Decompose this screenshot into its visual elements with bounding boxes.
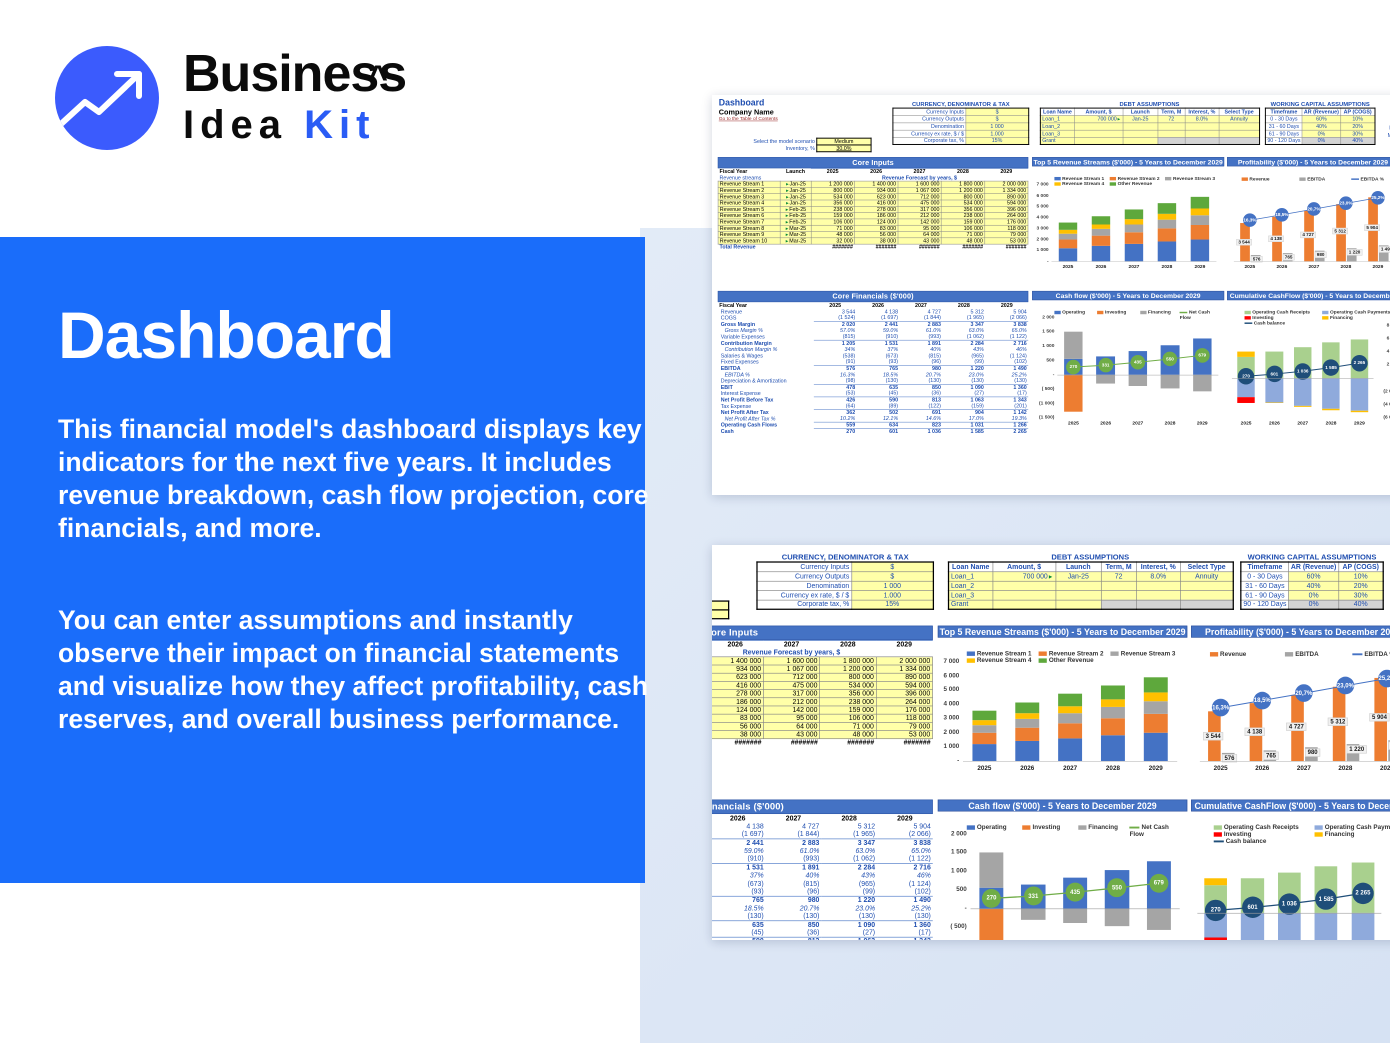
x-tick: 2029 <box>1139 765 1172 772</box>
financial-value: 43% <box>821 871 877 879</box>
currency-value[interactable]: 1 000 <box>851 581 933 590</box>
table-row: Select the model scenario Medium <box>712 601 729 610</box>
x-tick: 2026 <box>1011 765 1044 772</box>
table-of-contents-link[interactable]: Go to the Table of Contents <box>719 116 778 121</box>
debt-cell[interactable] <box>1158 123 1185 130</box>
debt-cell[interactable]: Jan-25 <box>1123 115 1158 122</box>
stream-value[interactable]: 95 000 <box>763 714 819 722</box>
chart-top5-revenue[interactable]: Top 5 Revenue Streams ($'000) - 5 Years … <box>1032 157 1224 275</box>
table-row: Contribution Margin %34%37%40%43%46% <box>712 871 933 879</box>
wc-col-header: Timeframe <box>1241 562 1289 571</box>
bar-segment <box>1059 230 1077 234</box>
table-row: Loan_3 <box>1040 130 1259 137</box>
cash-balance-bubble: 2 265 <box>1351 355 1367 371</box>
bar-segment <box>1058 694 1082 706</box>
stream-value[interactable]: 1 400 000 <box>712 657 763 665</box>
debt-cell[interactable] <box>993 600 1056 609</box>
debt-cell[interactable]: Loan_3 <box>949 590 993 599</box>
year-header: 2028 <box>820 640 876 648</box>
total-revenue-value: ####### <box>876 739 932 747</box>
table-row: Revenue Stream 5 ►Feb-25238 000278 00031… <box>712 690 932 698</box>
wc-cell[interactable]: 40% <box>1289 581 1339 590</box>
inventory-value[interactable]: 30.0% <box>712 610 729 619</box>
table-row: EBITDA5767659801 2201 490 <box>712 896 933 904</box>
stream-value[interactable]: 48 000 <box>820 731 876 739</box>
debt-cell[interactable] <box>1074 137 1123 144</box>
table-row: Revenue Stream 1 ►Jan-251 200 0001 400 0… <box>712 657 932 665</box>
debt-cell[interactable] <box>1180 600 1233 609</box>
x-tick: 2029 <box>1187 264 1212 269</box>
debt-cell[interactable] <box>1136 600 1180 609</box>
table-row: Currency Outputs $ <box>757 571 933 580</box>
dashboard-screenshot-bottom[interactable]: Dashboard Company Name Go to the Table o… <box>712 545 1390 940</box>
y-tick: - <box>1032 258 1048 263</box>
financial-value: 1 490 <box>877 896 933 904</box>
ebitda-pct-bubble: 18,5% <box>1275 208 1289 222</box>
currency-label: Currency Inputs <box>893 108 966 115</box>
legend-item: Revenue Stream 2 <box>1039 650 1104 657</box>
currency-value[interactable]: 1.000 <box>851 590 933 599</box>
table-row: Corporate tax, % 15% <box>893 137 1029 144</box>
table-row: Loan_2 <box>1040 123 1259 130</box>
stream-value[interactable]: 238 000 <box>820 698 876 706</box>
currency-label: Corporate tax, % <box>757 600 852 609</box>
table-row: 31 - 60 Days40%20% <box>1241 581 1383 590</box>
financial-value: 2 441 <box>712 839 766 847</box>
stream-value[interactable]: 475 000 <box>763 681 819 689</box>
financial-value: 1 360 <box>877 920 933 928</box>
core-inputs-band: Core Inputs <box>712 626 933 640</box>
net-cash-flow-bubble: 435 <box>1066 883 1085 902</box>
stream-value[interactable]: 159 000 <box>820 706 876 714</box>
bar-segment <box>1158 242 1176 262</box>
debt-cell[interactable]: 700 000► <box>1074 115 1123 122</box>
financial-value: 63.0% <box>821 847 877 855</box>
cash-balance-bubble: 601 <box>1266 366 1282 382</box>
debt-cell[interactable] <box>1185 130 1219 137</box>
brand-logo: Business ^ Idea Kit <box>55 40 455 152</box>
company-name: Company Name <box>719 108 778 116</box>
bar-segment <box>972 720 996 725</box>
table-row: Revenue Stream 10 ►Mar-2532 00038 00043 … <box>712 731 932 739</box>
debt-cell[interactable] <box>1185 137 1219 144</box>
stream-value[interactable]: 800 000 <box>820 673 876 681</box>
net-cash-flow-line <box>1032 300 1224 430</box>
wc-cell: 0 - 30 Days <box>1265 115 1302 122</box>
debt-cell[interactable]: 8.0% <box>1185 115 1219 122</box>
y-tick: 3 000 <box>938 715 959 722</box>
currency-value[interactable]: $ <box>966 115 1029 122</box>
net-cash-flow-bubble: 679 <box>1195 348 1210 363</box>
stream-value[interactable]: 356 000 <box>820 690 876 698</box>
chart-title: Profitability ($'000) - 5 Years to Decem… <box>1191 626 1390 638</box>
financial-value: 3 347 <box>821 839 877 847</box>
bar-segment <box>1092 216 1110 224</box>
currency-value[interactable]: 1 000 <box>966 123 1029 130</box>
wc-cell[interactable]: 0% <box>1289 590 1339 599</box>
bar-segment <box>1059 223 1077 230</box>
stream-value[interactable]: 2 000 000 <box>876 657 932 665</box>
currency-table: Currency Inputs $ Currency Outputs $ Den… <box>892 108 1029 145</box>
financial-value: 20.7% <box>766 904 822 912</box>
currency-value[interactable]: 1.000 <box>966 130 1029 137</box>
bar-segment <box>972 711 996 720</box>
financial-value: (1 844) <box>766 830 822 838</box>
total-revenue-value: ####### <box>985 244 1028 250</box>
stream-value[interactable]: 1 334 000 <box>876 665 932 673</box>
stream-value[interactable]: 1 200 000 <box>820 665 876 673</box>
wc-cell: 90 - 120 Days <box>1265 137 1302 144</box>
table-row: Fixed Expenses(91)(93)(96)(99)(102) <box>712 888 933 896</box>
wc-cell[interactable]: 30% <box>1341 130 1375 137</box>
stream-value[interactable]: 594 000 <box>876 681 932 689</box>
bar-segment <box>1158 203 1176 214</box>
stream-value[interactable]: 890 000 <box>876 673 932 681</box>
stream-value[interactable]: 71 000 <box>820 722 876 730</box>
stream-value[interactable]: 176 000 <box>876 706 932 714</box>
wc-cell[interactable]: 40% <box>1302 123 1340 130</box>
forecast-title: Revenue Forecast by years, $ <box>712 649 932 657</box>
table-row: Revenue Stream 4 ►Jan-25356 000416 00047… <box>712 681 932 689</box>
debt-cell[interactable]: 700 000► <box>993 571 1056 580</box>
financial-value: 270 <box>814 428 857 434</box>
chart-profitability[interactable]: Profitability ($'000) - 5 Years to Decem… <box>1191 626 1390 780</box>
financial-value: 1 063 <box>821 937 877 940</box>
chart-profitability[interactable]: Profitability ($'000) - 5 Years to Decem… <box>1227 157 1390 275</box>
currency-value[interactable]: $ <box>851 562 933 571</box>
table-row: Revenue Stream 2 ►Jan-25800 000934 0001 … <box>712 665 932 673</box>
bar-segment <box>1125 219 1143 224</box>
debt-cell[interactable] <box>1185 123 1219 130</box>
table-row: Revenue Stream 7 ►Feb-25106 000124 00014… <box>712 706 932 714</box>
stream-value[interactable]: 106 000 <box>820 714 876 722</box>
kpi-label: ROE <box>1386 109 1390 117</box>
dashboard-screenshot-top[interactable]: Dashboard Company Name Go to the Table o… <box>712 95 1390 495</box>
debt-col-header: Launch <box>1123 108 1158 115</box>
financial-value: (130) <box>712 912 766 920</box>
debt-cell[interactable] <box>1074 123 1123 130</box>
panel-paragraph-1: This financial model's dashboard display… <box>58 413 658 545</box>
debt-cell[interactable]: 72 <box>1158 115 1185 122</box>
stream-value[interactable]: 1 067 000 <box>763 665 819 673</box>
ebitda-pct-bubble: 25,2% <box>1378 670 1390 688</box>
wc-cell[interactable]: 20% <box>1341 123 1375 130</box>
debt-cell[interactable] <box>1136 590 1180 599</box>
financial-value: (673) <box>712 880 766 888</box>
wc-cell[interactable]: 60% <box>1302 115 1340 122</box>
financial-value: 601 <box>857 428 900 434</box>
stream-value[interactable]: 124 000 <box>712 706 763 714</box>
stream-value[interactable]: 934 000 <box>712 665 763 673</box>
stream-value[interactable]: 43 000 <box>763 731 819 739</box>
debt-cell[interactable] <box>1219 123 1260 130</box>
financial-value: (99) <box>821 888 877 896</box>
y-tick: 3 000 <box>1032 226 1048 231</box>
financial-value: 1 531 <box>712 863 766 871</box>
bar-segment <box>1058 723 1082 738</box>
currency-label: Currency ex rate, $ / $ <box>893 130 966 137</box>
debt-cell[interactable] <box>1136 581 1180 590</box>
scenario-select[interactable]: Medium <box>712 601 729 610</box>
bar-segment <box>1144 677 1168 692</box>
debt-cell[interactable]: 72 <box>1101 571 1136 580</box>
currency-value[interactable]: $ <box>851 571 933 580</box>
chart-cumulative-cashflow[interactable]: Cumulative CashFlow ($'000) - 5 Years to… <box>1227 291 1390 432</box>
stream-value[interactable]: 416 000 <box>712 681 763 689</box>
chart-title: Cash flow ($'000) - 5 Years to December … <box>1032 291 1224 300</box>
financial-value: (965) <box>821 880 877 888</box>
stream-value[interactable]: 118 000 <box>876 714 932 722</box>
currency-value[interactable]: 15% <box>851 600 933 609</box>
table-row: Loan_1700 000►Jan-25728.0%Annuity <box>949 571 1234 580</box>
y-tick: 2 000 <box>1032 237 1048 242</box>
net-cash-flow-bubble: 679 <box>1149 874 1168 893</box>
scenario-select[interactable]: Medium <box>817 138 871 145</box>
stream-value[interactable]: 38 000 <box>712 731 763 739</box>
bar-segment <box>1191 209 1209 216</box>
x-tick: 2027 <box>1121 264 1146 269</box>
stream-value[interactable]: 79 000 <box>876 722 932 730</box>
debt-col-header: Interest, % <box>1136 562 1180 571</box>
total-revenue-value: ####### <box>854 244 897 250</box>
table-row: 90 - 120 Days0%40% <box>1241 600 1383 609</box>
brand-name-line2: Idea <box>183 103 304 147</box>
debt-cell[interactable] <box>1180 581 1233 590</box>
stream-value[interactable]: 396 000 <box>876 690 932 698</box>
debt-cell[interactable]: 8.0% <box>1136 571 1180 580</box>
wc-col-header: Timeframe <box>1265 108 1302 115</box>
bar-segment <box>1092 224 1110 229</box>
bar-segment <box>1158 220 1176 229</box>
debt-cell[interactable]: Loan_3 <box>1040 130 1074 137</box>
debt-cell[interactable] <box>1180 590 1233 599</box>
table-row: EBIT4786358501 0901 360 <box>712 920 933 928</box>
table-row: 61 - 90 Days0%30% <box>1265 130 1375 137</box>
wc-cell[interactable]: 0% <box>1289 600 1339 609</box>
financial-value: (815) <box>766 880 822 888</box>
currency-value[interactable]: 15% <box>966 137 1029 144</box>
core-inputs-table: Fiscal Year Launch20252026202720282029 R… <box>718 168 1028 250</box>
table-row: Variable Expenses(815)(910)(993)(1 062)(… <box>712 855 933 863</box>
currency-block-title: CURRENCY, DENOMINATOR & TAX <box>892 101 1029 108</box>
financial-value: (102) <box>877 888 933 896</box>
total-revenue-value: ####### <box>811 244 854 250</box>
financial-value: 5 312 <box>821 822 877 830</box>
cash-balance-bubble: 2 265 <box>1352 883 1373 904</box>
wc-cell[interactable]: 30% <box>1339 590 1384 599</box>
debt-cell[interactable] <box>1158 130 1185 137</box>
total-revenue-value: ####### <box>941 244 984 250</box>
stream-value[interactable]: 212 000 <box>763 698 819 706</box>
core-financials-band: Core Financials ($'000) <box>712 800 933 814</box>
inventory-value[interactable]: 30.0% <box>817 145 871 152</box>
wc-cell[interactable]: 0% <box>1302 137 1340 144</box>
debt-cell[interactable] <box>1158 137 1185 144</box>
wc-cell[interactable]: 40% <box>1339 600 1384 609</box>
year-header: 2029 <box>876 640 932 648</box>
cash-balance-bubble: 1 036 <box>1294 363 1310 379</box>
stream-value[interactable]: 1 800 000 <box>820 657 876 665</box>
debt-cell[interactable]: Annuity <box>1219 115 1260 122</box>
stream-value[interactable]: 623 000 <box>712 673 763 681</box>
currency-value[interactable]: $ <box>966 108 1029 115</box>
bar-segment <box>1191 225 1209 240</box>
table-row: Depreciation & Amortization(98)(130)(130… <box>712 912 933 920</box>
debt-cell[interactable]: Loan_1 <box>949 571 993 580</box>
legend-item: Revenue Stream 3 <box>1165 176 1215 181</box>
financial-value: (93) <box>712 888 766 896</box>
debt-col-header: Launch <box>1056 562 1101 571</box>
debt-col-header: Select Type <box>1219 108 1260 115</box>
debt-cell[interactable] <box>1123 137 1158 144</box>
debt-cell[interactable]: Jan-25 <box>1056 571 1101 580</box>
x-tick: 2028 <box>1097 765 1130 772</box>
year-header: 2026 <box>712 640 763 648</box>
debt-col-header: Loan Name <box>949 562 993 571</box>
wc-block-title: WORKING CAPITAL ASSUMPTIONS <box>1265 101 1376 108</box>
bar-segment <box>1191 197 1209 209</box>
stream-value[interactable]: 53 000 <box>876 731 932 739</box>
debt-cell[interactable] <box>1123 123 1158 130</box>
debt-cell[interactable] <box>1101 600 1136 609</box>
chart-cash-flow[interactable]: Cash flow ($'000) - 5 Years to December … <box>938 800 1187 940</box>
wc-col-header: AP (COGS) <box>1339 562 1384 571</box>
debt-cell[interactable] <box>1101 581 1136 590</box>
wc-cell[interactable]: 40% <box>1341 137 1375 144</box>
bar-segment <box>1101 735 1125 761</box>
financial-value: 1 891 <box>766 863 822 871</box>
currency-label: Denomination <box>757 581 852 590</box>
debt-cell[interactable] <box>1101 590 1136 599</box>
debt-cell[interactable]: Loan_2 <box>1040 123 1074 130</box>
wc-cell[interactable]: 20% <box>1339 581 1384 590</box>
stream-value[interactable]: 1 600 000 <box>763 657 819 665</box>
financial-value: 25.2% <box>877 904 933 912</box>
chart-cash-flow[interactable]: Cash flow ($'000) - 5 Years to December … <box>1032 291 1224 432</box>
kpi-label: Minimum Cash Month <box>1386 124 1390 132</box>
financial-value: 1 090 <box>821 920 877 928</box>
debt-cell[interactable]: Loan_2 <box>949 581 993 590</box>
table-row: Denomination 1 000 <box>757 581 933 590</box>
debt-cell[interactable] <box>1074 130 1123 137</box>
table-row: Total Revenue###########################… <box>718 244 1028 250</box>
financial-value: 2 883 <box>766 839 822 847</box>
debt-cell[interactable] <box>1219 130 1260 137</box>
wc-cell[interactable]: 60% <box>1289 571 1339 580</box>
table-row: Loan_2 <box>949 581 1234 590</box>
wc-cell: 0 - 30 Days <box>1241 571 1289 580</box>
x-tick: 2025 <box>968 765 1001 772</box>
debt-cell[interactable]: Loan_1 <box>1040 115 1074 122</box>
table-row: COGS(1 524)(1 697)(1 844)(1 965)(2 066) <box>712 830 933 838</box>
bar-segment <box>1015 741 1039 761</box>
debt-block-title: DEBT ASSUMPTIONS <box>948 553 1233 562</box>
table-row: Inventory, % 30.0% <box>712 610 729 619</box>
financial-value: 61.0% <box>766 847 822 855</box>
table-row: Gross Margin %57.0%59.0%61.0%63.0%65.0% <box>712 847 933 855</box>
bar-segment <box>1191 239 1209 261</box>
financial-value: (17) <box>877 929 933 937</box>
table-row: 61 - 90 Days0%30% <box>1241 590 1383 599</box>
stream-value[interactable]: 264 000 <box>876 698 932 706</box>
bar-segment <box>1101 707 1125 718</box>
table-row: Gross Margin2 0202 4412 8833 3473 838 <box>712 839 933 847</box>
y-tick: 6 000 <box>1032 193 1048 198</box>
x-tick: 2028 <box>1154 264 1179 269</box>
panel-paragraph-2: You can enter assumptions and instantly … <box>58 604 658 736</box>
table-row: Revenue Stream 6 ►Feb-25159 000186 00021… <box>712 698 932 706</box>
stream-value[interactable]: 534 000 <box>820 681 876 689</box>
ebitda-pct-bubble: 16,3% <box>1243 213 1257 227</box>
table-row: Currency ex rate, $ / $ 1.000 <box>757 590 933 599</box>
table-row: Cash2706011 0361 5852 265 <box>718 428 1028 434</box>
currency-label: Currency Inputs <box>757 562 852 571</box>
y-tick: 2 000 <box>938 729 959 736</box>
bar-segment <box>1058 738 1082 761</box>
financial-value: (2 066) <box>877 830 933 838</box>
financial-value: 18.5% <box>712 904 766 912</box>
debt-cell[interactable] <box>1056 590 1101 599</box>
financial-value: 37% <box>712 871 766 879</box>
stream-value[interactable]: 317 000 <box>763 690 819 698</box>
table-row: Denomination 1 000 <box>893 123 1029 130</box>
financial-value: 635 <box>712 920 766 928</box>
kpi-row: Minimum Cash Month Aug-25 <box>1386 124 1390 132</box>
stream-value[interactable]: 64 000 <box>763 722 819 730</box>
wc-cell[interactable]: 0% <box>1302 130 1340 137</box>
financial-value: 765 <box>712 896 766 904</box>
chart-cumulative-cashflow[interactable]: Cumulative CashFlow ($'000) - 5 Years to… <box>1191 800 1390 940</box>
stream-value[interactable]: 186 000 <box>712 698 763 706</box>
wc-cell[interactable]: 10% <box>1339 571 1384 580</box>
bar-segment <box>1144 733 1168 761</box>
stream-value[interactable]: 56 000 <box>712 722 763 730</box>
wc-cell: 61 - 90 Days <box>1241 590 1289 599</box>
table-row: Contribution Margin1 2051 5311 8912 2842… <box>712 863 933 871</box>
working-capital-table: TimeframeAR (Revenue)AP (COGS)0 - 30 Day… <box>1240 561 1384 610</box>
bar-segment <box>1058 706 1082 713</box>
debt-cell[interactable] <box>993 581 1056 590</box>
wc-cell[interactable]: 10% <box>1341 115 1375 122</box>
stream-value[interactable]: 278 000 <box>712 690 763 698</box>
legend-item: Revenue Stream 1 <box>967 650 1032 657</box>
financial-value: (27) <box>821 929 877 937</box>
chart-top5-revenue[interactable]: Top 5 Revenue Streams ($'000) - 5 Years … <box>938 626 1187 780</box>
financial-value: (1 965) <box>821 830 877 838</box>
table-row: Loan_3 <box>949 590 1234 599</box>
debt-cell[interactable] <box>993 590 1056 599</box>
debt-cell[interactable] <box>1056 600 1101 609</box>
debt-cell[interactable]: Annuity <box>1180 571 1233 580</box>
y-tick: 5 000 <box>938 686 959 693</box>
debt-cell[interactable]: Grant <box>949 600 993 609</box>
debt-cell[interactable] <box>1219 137 1260 144</box>
ebitda-pct-bubble: 18,5% <box>1253 692 1271 710</box>
debt-cell[interactable] <box>1123 130 1158 137</box>
stream-value[interactable]: 712 000 <box>763 673 819 681</box>
financial-value: (96) <box>766 888 822 896</box>
debt-cell[interactable] <box>1056 581 1101 590</box>
stream-value[interactable]: 142 000 <box>763 706 819 714</box>
table-row: Fiscal Year Launch20252026202720282029 <box>712 640 932 648</box>
bar-segment <box>1015 728 1039 741</box>
net-cash-flow-line <box>938 811 1187 940</box>
debt-cell[interactable]: Grant <box>1040 137 1074 144</box>
chart-title: Top 5 Revenue Streams ($'000) - 5 Years … <box>938 626 1187 638</box>
inventory-label: Inventory, % <box>739 145 817 152</box>
stream-value[interactable]: 83 000 <box>712 714 763 722</box>
x-tick: 2026 <box>1088 264 1113 269</box>
